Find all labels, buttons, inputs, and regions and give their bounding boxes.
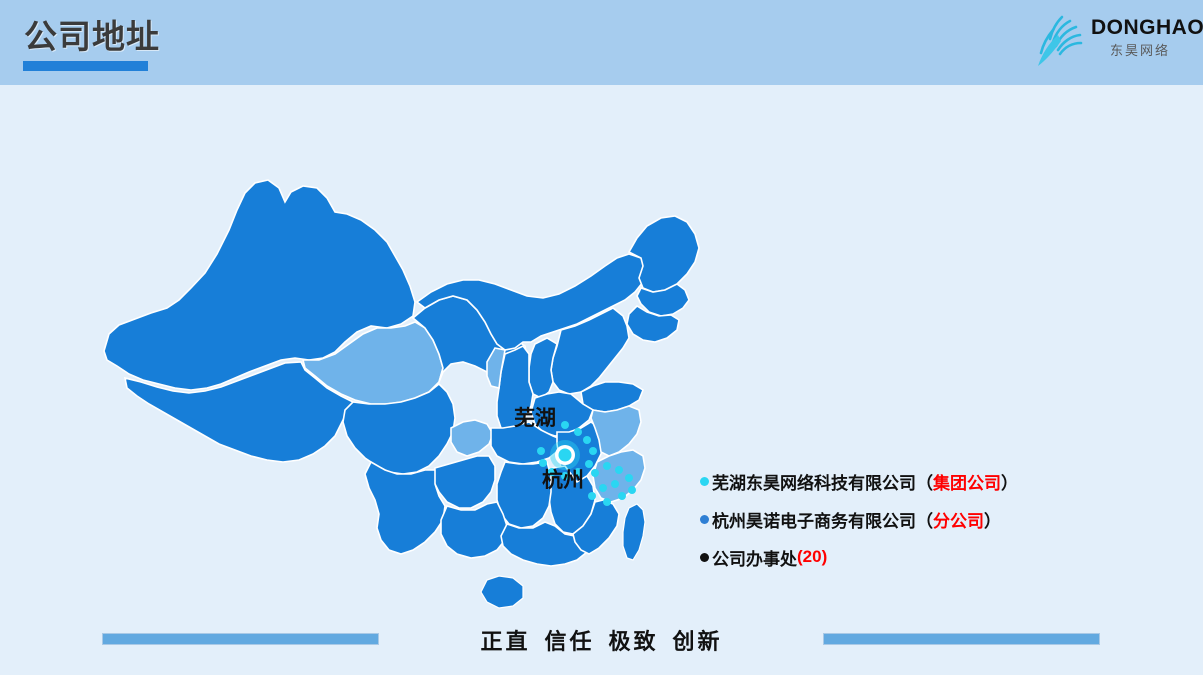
slogan-word: 信任: [544, 629, 594, 654]
china-map: 芜湖 杭州: [95, 110, 715, 610]
hangzhou-label: 杭州: [542, 468, 584, 492]
slogan-word: 创新: [673, 629, 723, 654]
legend-tag: 集团公司: [933, 469, 1001, 494]
legend: 芜湖东昊网络科技有限公司 （ 集团公司 ） 杭州昊诺电子商务有限公司 （ 分公司…: [700, 462, 1100, 576]
office-dot: [574, 428, 582, 436]
company-logo: DONGHAO 东昊网络: [1029, 8, 1189, 74]
office-dot: [589, 447, 597, 455]
province-guangxi: [441, 502, 507, 558]
feather-wing-icon: [1029, 10, 1091, 72]
legend-tag: 分公司: [933, 507, 984, 532]
legend-bullet-icon: [700, 553, 709, 562]
wuhu-label: 芜湖: [514, 407, 556, 430]
legend-bullet-icon: [700, 515, 709, 524]
legend-paren-close: ）: [984, 507, 1001, 532]
legend-paren-close: ）: [1001, 469, 1018, 494]
office-dot: [625, 474, 633, 482]
legend-item-branch-company: 杭州昊诺电子商务有限公司 （ 分公司 ）: [700, 500, 1100, 538]
office-dot: [539, 459, 547, 467]
logo-name-cn: 东昊网络: [1091, 41, 1189, 61]
header-band: [0, 0, 1203, 85]
slogan-word: 极致: [609, 629, 659, 654]
legend-label: 杭州昊诺电子商务有限公司: [712, 507, 916, 532]
office-dot: [591, 469, 599, 477]
legend-bullet-icon: [700, 477, 709, 486]
china-map-container: 芜湖 杭州: [95, 110, 715, 610]
province-hainan: [481, 576, 523, 608]
province-heilongjiang: [629, 216, 699, 292]
office-dot: [603, 462, 611, 470]
office-dot: [618, 492, 626, 500]
page-title: 公司地址: [24, 17, 160, 57]
office-dot: [615, 466, 623, 474]
logo-text-block: DONGHAO 东昊网络: [1091, 16, 1189, 61]
office-dot: [585, 460, 593, 468]
legend-label: 芜湖东昊网络科技有限公司: [712, 469, 916, 494]
legend-paren-open: （: [916, 469, 933, 494]
office-dot: [603, 498, 611, 506]
footer-slogan: 正直信任极致创新: [0, 624, 1203, 656]
slogan-word: 正直: [480, 629, 530, 654]
office-dot: [628, 486, 636, 494]
legend-tag: (20): [797, 547, 827, 567]
logo-name-en: DONGHAO: [1091, 16, 1189, 40]
wuhu-hub-marker: [550, 440, 580, 470]
office-dot: [611, 480, 619, 488]
office-dot: [599, 484, 607, 492]
office-dot: [588, 492, 596, 500]
legend-paren-open: （: [916, 507, 933, 532]
legend-item-group-company: 芜湖东昊网络科技有限公司 （ 集团公司 ）: [700, 462, 1100, 500]
province-yunnan: [365, 462, 445, 554]
province-chongqing: [451, 420, 493, 456]
province-taiwan: [623, 504, 645, 560]
slide-root: 公司地址 DONGHAO 东昊网络: [0, 0, 1203, 675]
office-dot: [561, 421, 569, 429]
legend-item-offices: 公司办事处 (20): [700, 538, 1100, 576]
office-dot: [583, 436, 591, 444]
legend-label: 公司办事处: [712, 545, 797, 570]
title-underline-bar: [23, 61, 148, 71]
office-dot: [537, 447, 545, 455]
